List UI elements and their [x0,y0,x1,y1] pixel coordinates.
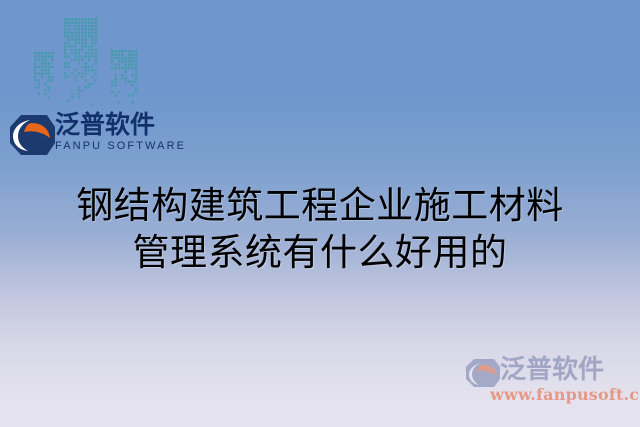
pixel-skyline-graphic [34,12,164,112]
headline-line-2: 管理系统有什么好用的 [0,229,640,276]
watermark-url: www.fanpusoft.com [490,385,640,404]
watermark: 泛普软件 www.fanpusoft.com [464,353,632,409]
promo-banner: 泛普软件 FANPU SOFTWARE 钢结构建筑工程企业施工材料 管理系统有什… [0,0,640,427]
logo-company-name-cn: 泛普软件 [55,110,180,140]
fanpu-logo: 泛普软件 FANPU SOFTWARE [8,110,180,160]
fanpu-logo-mark [8,113,56,157]
watermark-company-name: 泛普软件 [500,355,604,385]
logo-company-name-en: FANPU SOFTWARE [55,140,180,153]
headline-line-1: 钢结构建筑工程企业施工材料 [0,182,640,229]
fanpu-logo-text: 泛普软件 FANPU SOFTWARE [55,110,180,153]
headline: 钢结构建筑工程企业施工材料 管理系统有什么好用的 [0,182,640,276]
